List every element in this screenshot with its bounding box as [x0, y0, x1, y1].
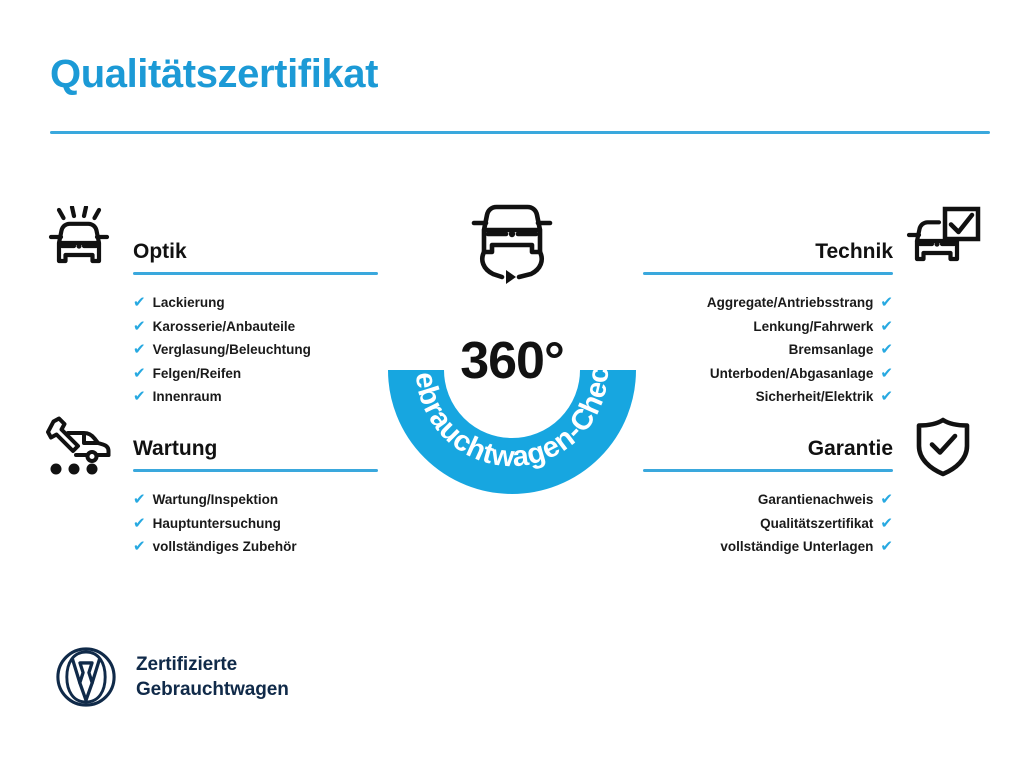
footer-line-2: Gebrauchtwagen [136, 677, 289, 702]
check-icon: ✔ [133, 389, 146, 404]
list-item: ✔ Karosserie/Anbauteile [133, 315, 378, 339]
list-item-label: Bremsanlage [789, 338, 874, 362]
check-icon: ✔ [880, 389, 893, 404]
certificate-page: Qualitätszertifikat Optik ✔ [0, 0, 1024, 768]
list-item: Garantienachweis ✔ [643, 488, 893, 512]
list-item: Sicherheit/Elektrik ✔ [643, 385, 893, 409]
section-optik: Optik ✔ Lackierung ✔ Karosserie/Anbautei… [133, 238, 378, 409]
section-wartung: Wartung ✔ Wartung/Inspektion ✔ Hauptunte… [133, 435, 378, 559]
list-item-label: Felgen/Reifen [153, 362, 242, 386]
section-garantie-title: Garantie [643, 435, 893, 463]
list-item: Bremsanlage ✔ [643, 338, 893, 362]
section-wartung-list: ✔ Wartung/Inspektion ✔ Hauptuntersuchung… [133, 488, 378, 559]
check-icon: ✔ [133, 319, 146, 334]
list-item-label: Innenraum [153, 385, 222, 409]
list-item-label: Lackierung [153, 291, 225, 315]
list-item-label: Lenkung/Fahrwerk [753, 315, 873, 339]
section-garantie: Garantie Garantienachweis ✔ Qualitätszer… [643, 435, 893, 559]
check-icon: ✔ [880, 516, 893, 531]
list-item: ✔ Hauptuntersuchung [133, 512, 378, 536]
list-item-label: Garantienachweis [758, 488, 874, 512]
list-item-label: Sicherheit/Elektrik [756, 385, 874, 409]
list-item: Unterboden/Abgasanlage ✔ [643, 362, 893, 386]
list-item-label: Aggregate/Antriebsstrang [707, 291, 874, 315]
section-technik-header: Technik [643, 238, 893, 278]
header-divider [50, 131, 990, 134]
list-item: ✔ vollständiges Zubehör [133, 535, 378, 559]
section-optik-title: Optik [133, 238, 378, 266]
car-checkbox-icon [906, 206, 982, 275]
list-item: ✔ Wartung/Inspektion [133, 488, 378, 512]
vw-logo-icon [55, 646, 117, 708]
list-item-label: Wartung/Inspektion [153, 488, 279, 512]
shield-check-icon [912, 416, 974, 483]
list-item-label: Hauptuntersuchung [153, 512, 281, 536]
list-item: ✔ Verglasung/Beleuchtung [133, 338, 378, 362]
list-item: Aggregate/Antriebsstrang ✔ [643, 291, 893, 315]
section-garantie-header: Garantie [643, 435, 893, 475]
check-icon: ✔ [880, 539, 893, 554]
check-icon: ✔ [133, 366, 146, 381]
check-icon: ✔ [880, 492, 893, 507]
car-shine-icon [46, 206, 118, 277]
check-icon: ✔ [880, 295, 893, 310]
section-optik-header: Optik [133, 238, 378, 278]
list-item: ✔ Felgen/Reifen [133, 362, 378, 386]
badge-number: 360° [378, 335, 646, 387]
section-technik-divider [643, 272, 893, 275]
list-item-label: Verglasung/Beleuchtung [153, 338, 311, 362]
section-optik-list: ✔ Lackierung ✔ Karosserie/Anbauteile ✔ V… [133, 291, 378, 409]
section-wartung-header: Wartung [133, 435, 378, 475]
check-icon: ✔ [133, 342, 146, 357]
check-icon: ✔ [133, 492, 146, 507]
list-item-label: Qualitätszertifikat [760, 512, 873, 536]
check-icon: ✔ [880, 366, 893, 381]
list-item: ✔ Innenraum [133, 385, 378, 409]
list-item-label: Unterboden/Abgasanlage [710, 362, 874, 386]
section-technik-list: Aggregate/Antriebsstrang ✔ Lenkung/Fahrw… [643, 291, 893, 409]
check-icon: ✔ [880, 342, 893, 357]
section-wartung-divider [133, 469, 378, 472]
section-technik-title: Technik [643, 238, 893, 266]
list-item-label: Karosserie/Anbauteile [153, 315, 296, 339]
car-rotate-icon [464, 190, 560, 295]
list-item-label: vollständige Unterlagen [720, 535, 873, 559]
footer-brand-text: Zertifizierte Gebrauchtwagen [136, 652, 289, 702]
section-wartung-title: Wartung [133, 435, 378, 463]
section-optik-divider [133, 272, 378, 275]
footer-line-1: Zertifizierte [136, 652, 289, 677]
section-garantie-list: Garantienachweis ✔ Qualitätszertifikat ✔… [643, 488, 893, 559]
check-icon: ✔ [880, 319, 893, 334]
section-technik: Technik Aggregate/Antriebsstrang ✔ Lenku… [643, 238, 893, 409]
badge-360-check: Gebrauchtwagen-Check 360° [378, 190, 646, 495]
list-item: ✔ Lackierung [133, 291, 378, 315]
check-icon: ✔ [133, 295, 146, 310]
check-icon: ✔ [133, 516, 146, 531]
page-title: Qualitätszertifikat [50, 52, 378, 96]
list-item: vollständige Unterlagen ✔ [643, 535, 893, 559]
wrench-car-icon [46, 416, 118, 483]
list-item-label: vollständiges Zubehör [153, 535, 297, 559]
list-item: Lenkung/Fahrwerk ✔ [643, 315, 893, 339]
list-item: Qualitätszertifikat ✔ [643, 512, 893, 536]
section-garantie-divider [643, 469, 893, 472]
footer-brand: Zertifizierte Gebrauchtwagen [55, 646, 289, 708]
check-icon: ✔ [133, 539, 146, 554]
